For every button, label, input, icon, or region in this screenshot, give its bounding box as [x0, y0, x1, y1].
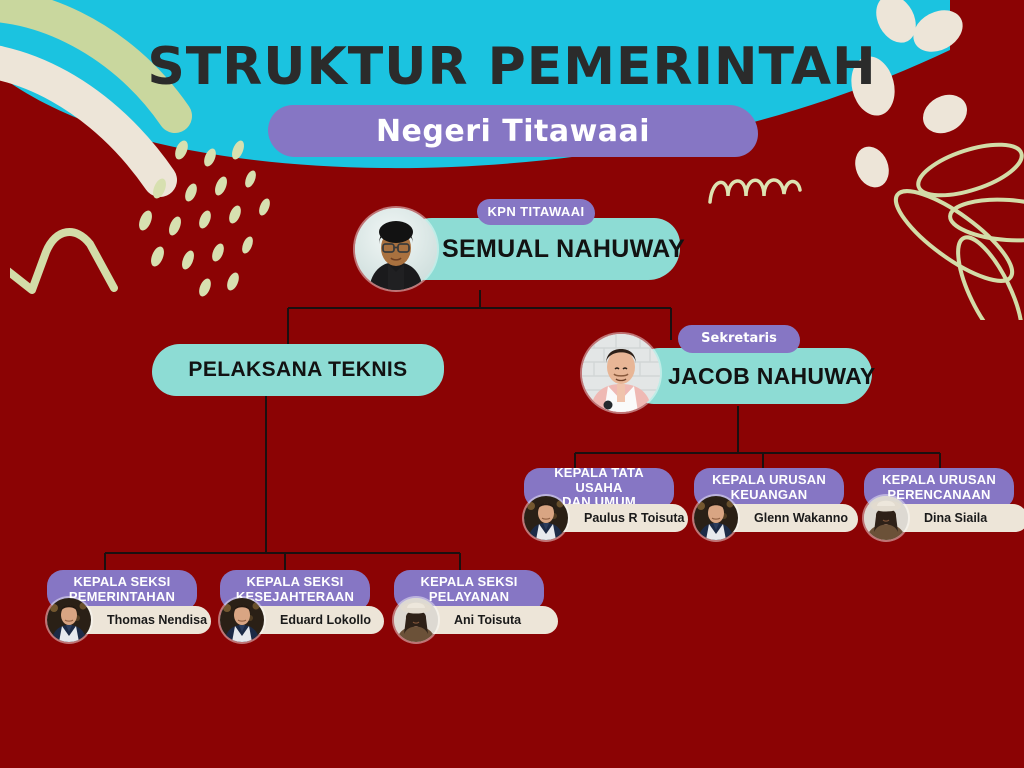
- avatar-dina-siaila[interactable]: [864, 496, 908, 540]
- leader-name-card[interactable]: SEMUAL NAHUWAY: [398, 218, 680, 280]
- subtitle-text: Negeri Titawaai: [376, 114, 650, 149]
- subtitle-badge: Negeri Titawaai: [268, 105, 758, 157]
- unit-name-pill[interactable]: Dina Siaila: [890, 504, 1024, 532]
- unit-name-pill[interactable]: Thomas Nendisa: [73, 606, 211, 634]
- unit-role-line1: KEPALA TATA USAHA: [554, 465, 644, 495]
- sekretaris-role-badge: Sekretaris: [678, 325, 800, 353]
- unit-role-line2: PERENCANAAN: [887, 487, 990, 502]
- unit-name-text: Glenn Wakanno: [754, 511, 848, 525]
- avatar-ani-toisuta[interactable]: [394, 598, 438, 642]
- unit-name-pill[interactable]: Ani Toisuta: [420, 606, 558, 634]
- unit-role-line2: PEMERINTAHAN: [69, 589, 175, 604]
- unit-name-pill[interactable]: Eduard Lokollo: [246, 606, 384, 634]
- avatar-thomas-nendisa[interactable]: [47, 598, 91, 642]
- main-title-text: STRUKTUR PEMERINTAH: [0, 40, 1024, 95]
- unit-role-line1: KEPALA SEKSI: [246, 574, 343, 589]
- unit-name-text: Dina Siaila: [924, 511, 987, 525]
- unit-name-text: Ani Toisuta: [454, 613, 521, 627]
- org-chart-poster: STRUKTUR PEMERINTAH Negeri Titawaai: [0, 0, 1024, 768]
- leader-role-text: KPN TITAWAAI: [488, 205, 585, 220]
- unit-name-text: Paulus R Toisuta: [584, 511, 684, 525]
- avatar-jacob-nahuway[interactable]: [582, 334, 660, 412]
- unit-name-text: Thomas Nendisa: [107, 613, 207, 627]
- page-title: STRUKTUR PEMERINTAH: [0, 40, 1024, 95]
- pelaksana-teknis-card[interactable]: PELAKSANA TEKNIS: [152, 344, 444, 396]
- unit-name-pill[interactable]: Glenn Wakanno: [720, 504, 858, 532]
- unit-role-line2: PELAYANAN: [429, 589, 509, 604]
- sekretaris-name-card[interactable]: JACOB NAHUWAY: [630, 348, 872, 404]
- unit-role-line1: KEPALA URUSAN: [712, 472, 826, 487]
- avatar-eduard-lokollo[interactable]: [220, 598, 264, 642]
- sekretaris-name-text: JACOB NAHUWAY: [668, 363, 876, 390]
- unit-role-line1: KEPALA SEKSI: [73, 574, 170, 589]
- sekretaris-role-text: Sekretaris: [701, 332, 777, 347]
- leader-name-text: SEMUAL NAHUWAY: [442, 235, 685, 264]
- unit-role-line2: KEUANGAN: [731, 487, 808, 502]
- avatar-paulus-r-toisuta[interactable]: [524, 496, 568, 540]
- leader-role-badge: KPN TITAWAAI: [477, 199, 595, 225]
- unit-name-text: Eduard Lokollo: [280, 613, 371, 627]
- unit-role-line1: KEPALA SEKSI: [420, 574, 517, 589]
- avatar-glenn-wakanno[interactable]: [694, 496, 738, 540]
- pelaksana-teknis-label: PELAKSANA TEKNIS: [188, 358, 407, 382]
- unit-name-pill[interactable]: Paulus R Toisuta: [550, 504, 688, 532]
- unit-role-line1: KEPALA URUSAN: [882, 472, 996, 487]
- avatar-semual-nahuway[interactable]: [355, 208, 437, 290]
